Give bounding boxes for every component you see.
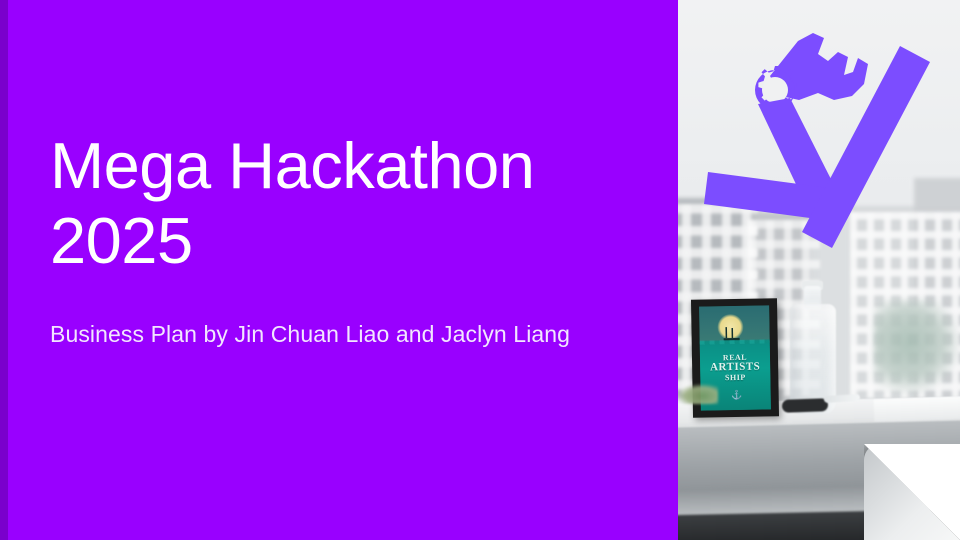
poster-line-3: SHIP <box>700 374 770 384</box>
title-panel: Mega Hackathon 2025 Business Plan by Jin… <box>0 0 678 540</box>
plant-blur <box>678 384 718 404</box>
poster-text: REAL ARTISTS SHIP <box>700 353 770 383</box>
page-title: Mega Hackathon 2025 <box>50 128 650 279</box>
paper-sheet <box>874 396 960 421</box>
title-text-block: Mega Hackathon 2025 Business Plan by Jin… <box>50 128 650 350</box>
foliage-blur <box>874 300 960 396</box>
remote-control <box>782 398 828 413</box>
ship-icon <box>724 327 740 341</box>
slide-subtitle: Business Plan by Jin Chuan Liao and Jacl… <box>50 319 650 350</box>
anchor-icon: ⚓ <box>731 390 740 401</box>
panel-left-edge-accent <box>0 0 8 540</box>
presentation-slide: Mega Hackathon 2025 Business Plan by Jin… <box>0 0 960 540</box>
photo-panel: REAL ARTISTS SHIP ⚓ <box>678 0 960 540</box>
page-curl-corner <box>864 444 960 540</box>
